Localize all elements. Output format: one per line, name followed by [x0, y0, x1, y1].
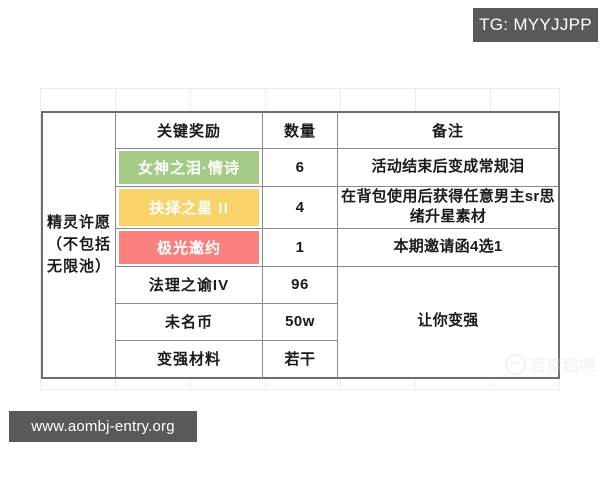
grid-hline [40, 389, 560, 390]
category-line-3: 无限池） [45, 256, 113, 278]
category-line-2: （不包括 [45, 234, 113, 256]
reward-name-pill: 女神之泪·情诗 [119, 151, 259, 184]
table-row: 极光邀约 1 本期邀请函4选1 [43, 228, 559, 266]
table-row: 女神之泪·情诗 6 活动结束后变成常规泪 [43, 149, 559, 187]
reward-quantity-cell: 1 [263, 228, 338, 266]
category-cell: 精灵许愿 （不包括 无限池） [43, 113, 116, 378]
reward-note-cell: 在背包使用后获得任意男主sr思绪升星素材 [338, 187, 559, 229]
grid-hline [40, 88, 560, 89]
header-note: 备注 [338, 113, 559, 149]
reward-name-cell: 变强材料 [116, 340, 263, 377]
header-key-reward: 关键奖励 [116, 113, 263, 149]
grid-vline [40, 88, 41, 390]
reward-quantity-cell: 6 [263, 149, 338, 187]
reward-name-cell: 极光邀约 [116, 228, 263, 266]
reward-quantity-cell: 50w [263, 303, 338, 340]
telegram-badge: TG: MYYJJPP [473, 8, 598, 42]
reward-note-cell: 活动结束后变成常规泪 [338, 149, 559, 187]
table-row: 抉择之星 II 4 在背包使用后获得任意男主sr思绪升星素材 [43, 187, 559, 229]
reward-quantity-cell: 96 [263, 266, 338, 303]
reward-name-cell: 未名币 [116, 303, 263, 340]
category-line-1: 精灵许愿 [45, 212, 113, 234]
website-badge: www.aombj-entry.org [9, 411, 197, 442]
reward-summary-table: 精灵许愿 （不包括 无限池） 关键奖励 数量 备注 女神之泪·情诗 6 活动结束… [42, 112, 559, 378]
table-row: 法理之谕IV 96 让你变强 [43, 266, 559, 303]
table-header-row: 精灵许愿 （不包括 无限池） 关键奖励 数量 备注 [43, 113, 559, 149]
reward-note-merged-cell: 让你变强 [338, 266, 559, 377]
reward-name-pill: 抉择之星 II [119, 189, 259, 226]
grid-vline [559, 88, 560, 390]
reward-note-cell: 本期邀请函4选1 [338, 228, 559, 266]
reward-name-cell: 女神之泪·情诗 [116, 149, 263, 187]
reward-quantity-cell: 若干 [263, 340, 338, 377]
header-quantity: 数量 [263, 113, 338, 149]
reward-quantity-cell: 4 [263, 187, 338, 229]
reward-name-cell: 法理之谕IV [116, 266, 263, 303]
reward-name-pill: 极光邀约 [119, 231, 259, 264]
reward-name-cell: 抉择之星 II [116, 187, 263, 229]
